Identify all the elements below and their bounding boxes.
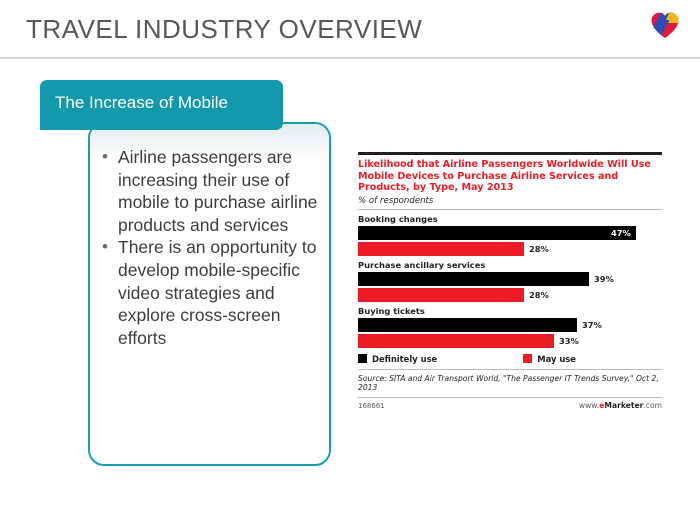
bar-value-label: 37%	[582, 320, 602, 330]
slide-canvas: TRAVEL INDUSTRY OVERVIEW The	[0, 0, 700, 520]
chart-legend: Definitely use May use	[358, 354, 662, 364]
bullet-dot-icon: •	[102, 146, 108, 169]
bar-row: 39%	[358, 272, 662, 286]
bar-definitely-use	[358, 226, 636, 240]
header-divider	[0, 57, 700, 59]
bar-row: 47%	[358, 226, 662, 240]
section-label-text: The Increase of Mobile	[55, 93, 228, 113]
brand-prefix: www.	[579, 401, 599, 410]
bar-value-label: 39%	[594, 274, 614, 284]
bullet-card: • Airline passengers are increasing thei…	[88, 122, 331, 466]
chart-top-rule	[358, 152, 662, 155]
bullet-list: • Airline passengers are increasing thei…	[98, 146, 326, 349]
chart-id: 168661	[358, 402, 385, 410]
slide-footer: TubeMogul|SOFTWARE FOR DIGITAL BRANDING …	[0, 478, 700, 520]
legend-label: May use	[537, 354, 576, 364]
chart-bottom-rule	[358, 397, 662, 398]
bar-row: 33%	[358, 334, 662, 348]
chart-subtitle: % of respondents	[358, 196, 662, 206]
bar-value-label: 28%	[529, 290, 549, 300]
legend-label: Definitely use	[372, 354, 437, 364]
legend-item-may-use: May use	[523, 354, 576, 364]
bar-may-use	[358, 288, 524, 302]
emarketer-chart: Likelihood that Airline Passengers World…	[358, 152, 662, 410]
bar-may-use	[358, 242, 524, 256]
bar-definitely-use	[358, 318, 577, 332]
bar-row: 28%	[358, 242, 662, 256]
brand-marketer: Marketer	[604, 401, 643, 410]
slide-header: TRAVEL INDUSTRY OVERVIEW	[0, 0, 700, 58]
chart-category-label: Booking changes	[358, 214, 662, 224]
emarketer-wordmark: www.eMarketer.com	[579, 401, 662, 410]
bullet-dot-icon: •	[102, 236, 108, 259]
bullet-text: Airline passengers are increasing their …	[118, 147, 317, 235]
page-title: TRAVEL INDUSTRY OVERVIEW	[26, 14, 422, 45]
bar-value-label: 28%	[529, 244, 549, 254]
bar-row: 37%	[358, 318, 662, 332]
list-item: • There is an opportunity to develop mob…	[98, 236, 326, 349]
chart-source-rule	[358, 369, 662, 370]
legend-item-definitely-use: Definitely use	[358, 354, 437, 364]
bullet-text: There is an opportunity to develop mobil…	[118, 237, 316, 347]
section-label-box: The Increase of Mobile	[40, 80, 283, 130]
list-item: • Airline passengers are increasing thei…	[98, 146, 326, 236]
bar-row: 28%	[358, 288, 662, 302]
bar-may-use	[358, 334, 554, 348]
chart-title-rule	[358, 209, 662, 210]
brand-suffix: .com	[643, 401, 662, 410]
chart-title: Likelihood that Airline Passengers World…	[358, 159, 662, 194]
chart-footer: 168661 www.eMarketer.com	[358, 401, 662, 410]
chart-category-label: Buying tickets	[358, 306, 662, 316]
legend-swatch-icon	[523, 354, 532, 363]
chart-category-label: Purchase ancillary services	[358, 260, 662, 270]
southwest-heart-logo	[650, 11, 680, 39]
bar-definitely-use	[358, 272, 589, 286]
bar-value-label: 33%	[559, 336, 579, 346]
chart-source: Source: SITA and Air Transport World, "T…	[358, 374, 662, 393]
bar-value-label: 47%	[611, 228, 631, 238]
legend-swatch-icon	[358, 354, 367, 363]
